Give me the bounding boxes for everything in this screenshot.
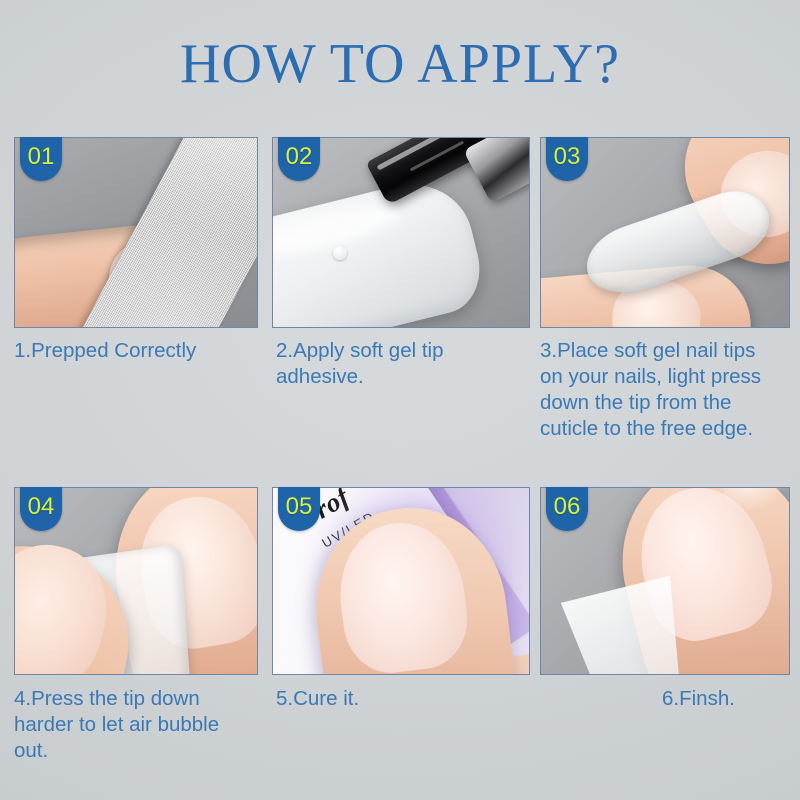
step-badge-4: 04 (20, 487, 62, 531)
step-badge-label: 06 (554, 495, 581, 519)
step-caption-6: 6.Finsh. (662, 686, 792, 712)
step-badge-6: 06 (546, 487, 588, 531)
step-card-5: Prof UV/LED 05 (272, 487, 530, 675)
step-caption-4: 4.Press the tip down harder to let air b… (14, 686, 270, 764)
step-badge-label: 05 (286, 495, 313, 519)
step-caption-2: 2.Apply soft gel tip adhesive. (276, 338, 526, 390)
step-badge-1: 01 (20, 137, 62, 181)
step-caption-3: 3.Place soft gel nail tips on your nails… (540, 338, 800, 442)
step-card-1: 01 (14, 137, 258, 328)
step-card-4: 04 (14, 487, 258, 675)
step-caption-5: 5.Cure it. (276, 686, 526, 712)
step-badge-label: 02 (286, 145, 313, 169)
step-card-6: 06 (540, 487, 790, 675)
step-badge-3: 03 (546, 137, 588, 181)
step-badge-5: 05 (278, 487, 320, 531)
step-badge-label: 01 (28, 145, 55, 169)
step-caption-1: 1.Prepped Correctly (14, 338, 264, 364)
curing-nail-shape (332, 516, 473, 675)
step-card-3: 03 (540, 137, 790, 328)
steps-grid: 01 1.Prepped Correctly 02 2.Apply soft g… (0, 0, 800, 800)
adhesive-drop-shape (333, 246, 347, 260)
step-badge-label: 03 (554, 145, 581, 169)
step-card-2: 02 (272, 137, 530, 328)
step-badge-2: 02 (278, 137, 320, 181)
step-badge-label: 04 (28, 495, 55, 519)
